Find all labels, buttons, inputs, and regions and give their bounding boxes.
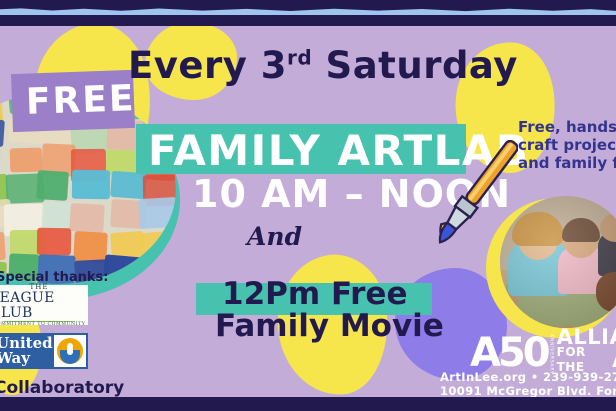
blurb-line-3: and family fun [518, 154, 616, 172]
league-club-tagline: COMMITMENT TO COMMUNITY [0, 322, 85, 327]
event-blurb: Free, hands-on craft projects and family… [518, 118, 616, 172]
event-flyer: Every 3rd Saturday FAMILY ARTLAB 10 AM –… [0, 0, 616, 411]
free-badge-label: FREE [25, 78, 136, 123]
contact-line-1: ArtInLee.org • 239-939-2787 [440, 370, 616, 384]
contact-line-2: 10091 McGregor Blvd. Fort Myers [440, 384, 616, 398]
contact-info: ArtInLee.org • 239-939-2787 10091 McGreg… [440, 370, 616, 398]
collaboratory-logo: Collaboratory [0, 378, 124, 398]
frequency-post: Saturday [312, 44, 518, 87]
special-thanks-label: Special thanks: [0, 270, 108, 285]
alliance-anniversary-text: ANNIVERSARY [549, 334, 554, 372]
alliance-monogram: A50 [470, 335, 548, 371]
league-club-name: LEAGUE CLUB [0, 291, 88, 321]
league-club-logo: THE LEAGUE CLUB COMMITMENT TO COMMUNITY [0, 285, 88, 325]
blurb-line-1: Free, hands-on [518, 118, 616, 136]
blurb-line-2: craft projects [518, 136, 616, 154]
frequency-ordinal: rd [287, 46, 312, 70]
movie-line-1: 12Pm Free [222, 276, 408, 312]
united-way-rainbow-icon [54, 335, 86, 367]
movie-line-2: Family Movie [215, 308, 444, 344]
frequency-pre: Every 3 [128, 44, 287, 87]
united-way-line-2: Way [0, 351, 53, 366]
united-way-logo: United Way [0, 333, 88, 369]
alliance-word-arts: ARTS [612, 353, 616, 368]
and-script: And [247, 222, 302, 251]
alliance-word-alliance: ALLIANCE [557, 330, 616, 345]
alliance-for-the-arts-logo: A50 ANNIVERSARY ALLIANCE FOR THE ARTS [470, 330, 616, 375]
united-way-wordmark: United Way [0, 336, 53, 366]
bottom-navy-bar [0, 397, 616, 411]
paintbrush-icon [432, 136, 518, 260]
event-frequency-line: Every 3rd Saturday [128, 44, 518, 87]
